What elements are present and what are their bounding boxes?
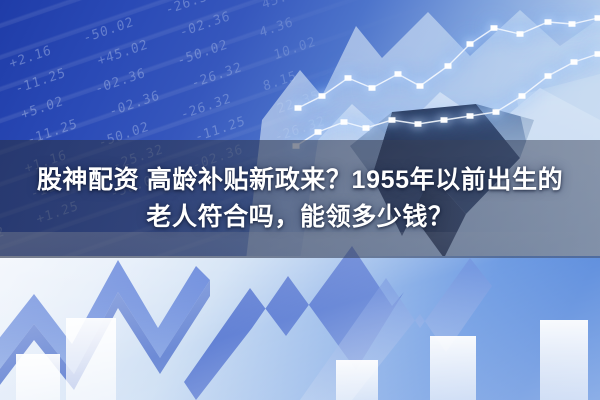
chart-node (493, 109, 500, 115)
headline-line-1: 股神配资 高龄补贴新政来？1955年以前出生的 (37, 165, 563, 196)
chart-node (595, 15, 600, 21)
chart-node (345, 75, 352, 81)
chart-node (519, 93, 526, 99)
chart-node (441, 117, 448, 123)
chart-node (319, 93, 326, 99)
chart-node (467, 113, 474, 119)
chart-node (571, 59, 578, 65)
banner-image: -48.05 +2.16 -50.02 -26.32 +21.15 -35.35… (0, 0, 600, 400)
chart-node (545, 19, 552, 25)
chart-node (315, 129, 322, 135)
chart-node (595, 51, 600, 57)
chart-line-upper (298, 18, 598, 108)
chart-node (491, 25, 498, 31)
chart-node (415, 121, 422, 127)
chart-node (545, 73, 552, 79)
chart-node (389, 117, 396, 123)
chart-node (569, 21, 576, 27)
chart-node (417, 83, 424, 89)
chart-node (369, 85, 376, 91)
headline-block: 股神配资 高龄补贴新政来？1955年以前出生的 老人符合吗，能领多少钱？ (0, 140, 600, 258)
chart-node (467, 41, 474, 47)
chart-node (517, 31, 524, 37)
chart-node (295, 105, 302, 111)
chart-node (341, 119, 348, 125)
chart-node (445, 63, 452, 69)
chart-node (363, 125, 370, 131)
chart-nodes-upper (295, 15, 600, 111)
chart-node (395, 71, 402, 77)
headline-line-2: 老人符合吗，能领多少钱？ (146, 202, 453, 233)
